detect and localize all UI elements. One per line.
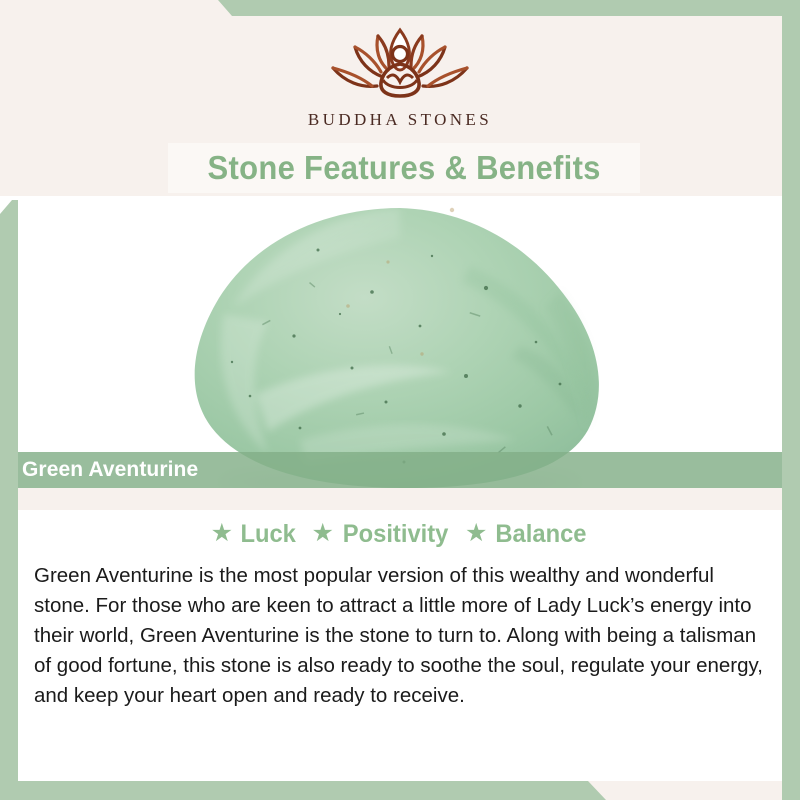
frame-accent-right <box>782 0 800 800</box>
benefit-item: ★ Luck <box>211 520 298 549</box>
frame-accent-bottom <box>0 781 606 800</box>
brand-logo: BUDDHA STONES <box>0 20 800 130</box>
benefit-label: Luck <box>241 520 296 549</box>
green-aventurine-stone-image <box>0 196 800 488</box>
product-info-card: BUDDHA STONES Stone Features & Benefits <box>0 0 800 800</box>
star-icon: ★ <box>465 521 487 546</box>
stone-description: Green Aventurine is the most popular ver… <box>34 561 766 711</box>
frame-accent-left <box>0 200 18 800</box>
lotus-meditation-figure-icon <box>315 20 485 106</box>
star-icon: ★ <box>311 521 333 546</box>
benefit-label: Balance <box>496 520 587 549</box>
benefits-list: ★ Luck ★ Positivity ★ Balance <box>0 510 800 549</box>
stone-name-bar: Green Aventurine <box>0 452 800 488</box>
benefit-label: Positivity <box>343 520 449 549</box>
description-panel: ★ Luck ★ Positivity ★ Balance Green Aven… <box>0 510 800 781</box>
section-title-box: Stone Features & Benefits <box>168 143 640 193</box>
star-icon: ★ <box>211 521 233 546</box>
benefit-item: ★ Positivity <box>311 520 451 549</box>
brand-name: BUDDHA STONES <box>308 110 492 130</box>
stone-photo: Green Aventurine <box>0 196 800 488</box>
stone-name: Green Aventurine <box>22 458 198 482</box>
section-divider <box>0 488 800 510</box>
page-title: Stone Features & Benefits <box>207 149 600 187</box>
frame-accent-top <box>218 0 800 16</box>
header: BUDDHA STONES Stone Features & Benefits <box>0 0 800 200</box>
benefit-item: ★ Balance <box>465 520 589 549</box>
